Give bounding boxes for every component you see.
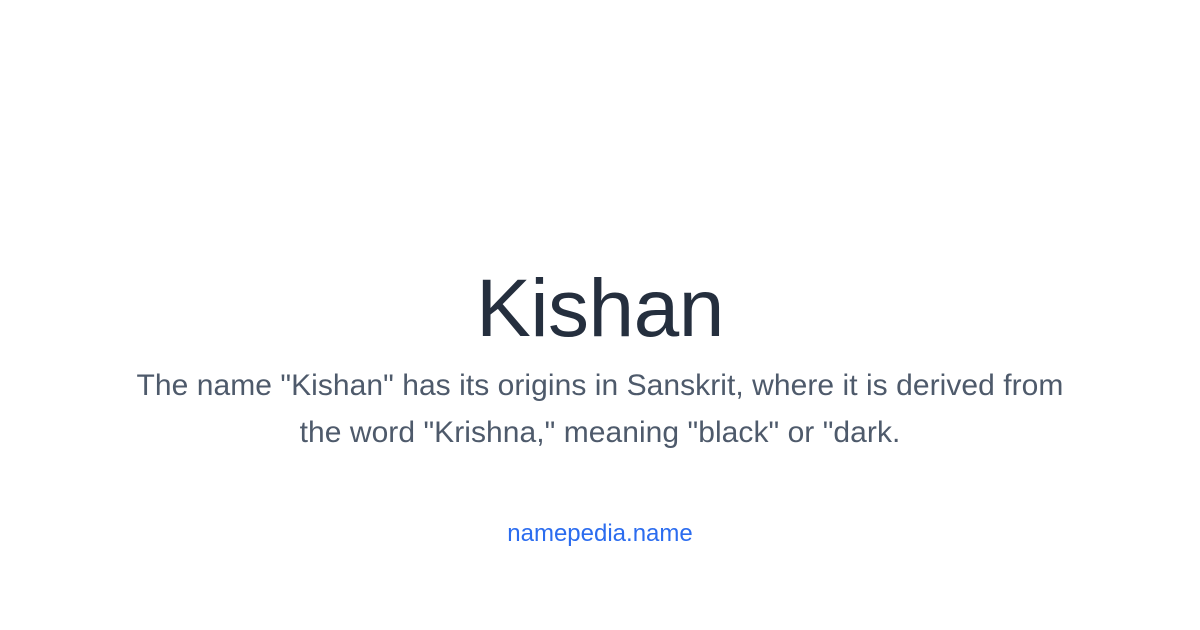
content-block: Kishan The name "Kishan" has its origins… (0, 0, 1200, 630)
page-title: Kishan (0, 261, 1200, 357)
name-description: The name "Kishan" has its origins in San… (0, 362, 1200, 456)
name-preview-card: Kishan The name "Kishan" has its origins… (0, 0, 1200, 630)
site-link[interactable]: namepedia.name (0, 518, 1200, 550)
